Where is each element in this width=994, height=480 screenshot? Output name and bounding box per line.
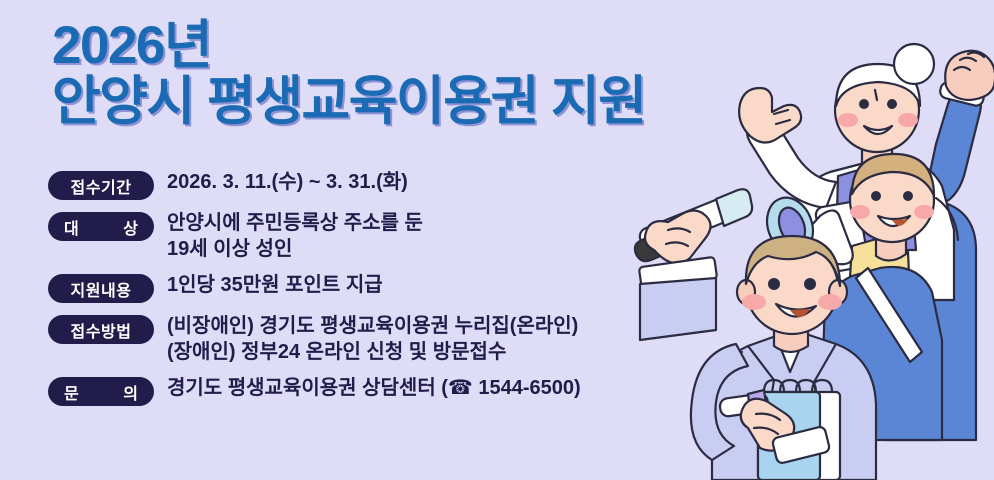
title-line-2: 안양시 평생교육이용권 지원 [52,74,646,130]
value-line: 경기도 평생교육이용권 상담센터 (☎ 1544-6500) [167,376,581,402]
value-inquiry: 경기도 평생교육이용권 상담센터 (☎ 1544-6500) [167,376,581,402]
value-line: (장애인) 정부24 온라인 신청 및 방문접수 [167,340,578,366]
value-target: 안양시에 주민등록상 주소를 둔 19세 이상 성인 [167,211,423,262]
badge-char: 의 [123,380,138,404]
page-title: 2026년 안양시 평생교육이용권 지원 [52,18,646,130]
figure-megaphone-man [759,154,942,440]
badge-application-method: 접수방법 [48,315,154,344]
badge-char: 상 [123,215,138,239]
promotional-banner: 2026년 안양시 평생교육이용권 지원 접수기간 2026. 3. 11.(수… [0,0,994,480]
value-application-period: 2026. 3. 11.(수) ~ 3. 31.(화) [167,170,408,196]
value-support-content: 1인당 35만원 포인트 지급 [167,273,383,299]
value-line: 2026. 3. 11.(수) ~ 3. 31.(화) [167,170,408,196]
figure-elderly-woman [739,44,958,300]
illustration-group [624,0,994,480]
hand-with-marker [635,189,752,340]
figure-raised-fist [886,51,994,440]
badge-target: 대 상 [48,212,154,241]
badge-application-period: 접수기간 [48,171,154,200]
megaphone-icon [759,191,852,293]
value-line: (비장애인) 경기도 평생교육이용권 누리집(온라인) [167,314,578,340]
info-row-support-content: 지원내용 1인당 35만원 포인트 지급 [48,273,581,303]
badge-support-content: 지원내용 [48,274,154,303]
title-line-1: 2026년 [52,18,646,74]
info-row-inquiry: 문 의 경기도 평생교육이용권 상담센터 (☎ 1544-6500) [48,376,581,406]
value-line: 1인당 35만원 포인트 지급 [167,273,383,299]
value-line: 안양시에 주민등록상 주소를 둔 [167,211,423,237]
value-line: 19세 이상 성인 [167,237,423,263]
info-row-target: 대 상 안양시에 주민등록상 주소를 둔 19세 이상 성인 [48,211,581,262]
info-list: 접수기간 2026. 3. 11.(수) ~ 3. 31.(화) 대 상 안양시… [48,170,581,417]
badge-inquiry: 문 의 [48,377,154,406]
badge-char: 문 [64,380,79,404]
value-application-method: (비장애인) 경기도 평생교육이용권 누리집(온라인) (장애인) 정부24 온… [167,314,578,365]
notepad-icon [758,380,840,480]
figure-notepad-woman [691,236,876,480]
info-row-application-period: 접수기간 2026. 3. 11.(수) ~ 3. 31.(화) [48,170,581,200]
info-row-application-method: 접수방법 (비장애인) 경기도 평생교육이용권 누리집(온라인) (장애인) 정… [48,314,581,365]
badge-char: 대 [64,215,79,239]
